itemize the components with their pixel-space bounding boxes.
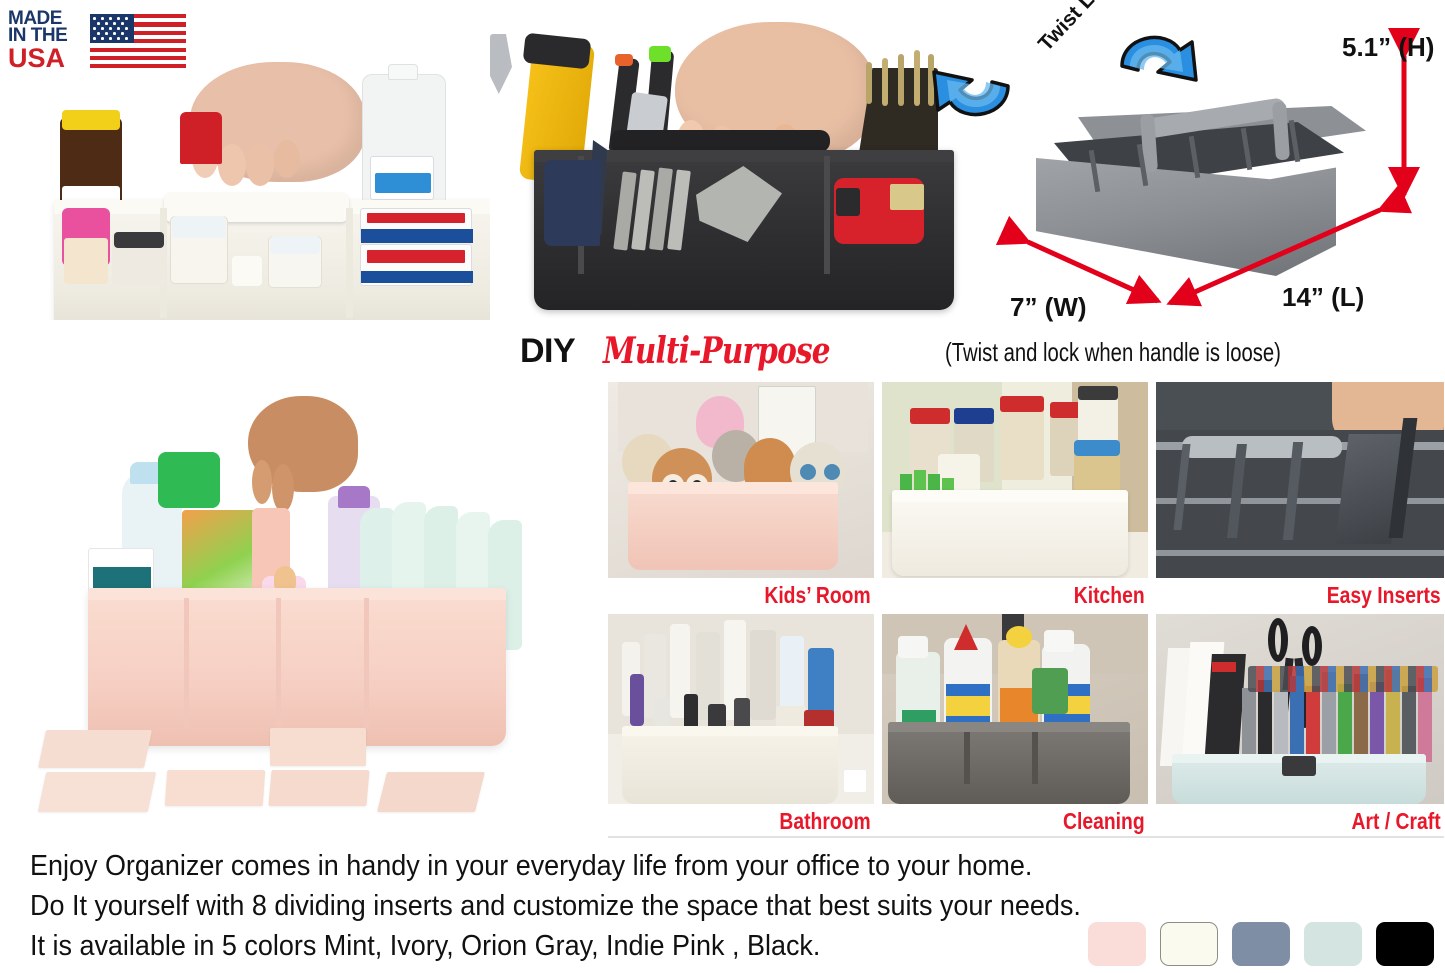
usecase-grid: Kids’ Room: [608, 382, 1444, 834]
divider-insert: [270, 728, 366, 766]
tote-handle: [610, 130, 830, 152]
divider-insert: [38, 772, 157, 812]
usecase-cleaning: Cleaning: [882, 614, 1148, 834]
pink-organizer-tote: [88, 588, 506, 746]
usecase-kitchen: Kitchen: [882, 382, 1148, 608]
divider-insert: [38, 730, 152, 768]
usecase-easy-inserts: Easy Inserts: [1156, 382, 1444, 608]
height-label: 5.1” (H): [1342, 32, 1434, 63]
usecase-label: Cleaning: [925, 808, 1148, 834]
baby-organizer-photo: [30, 390, 590, 830]
usecase-label: Kids’ Room: [651, 582, 874, 608]
color-swatch-row: [1088, 922, 1438, 968]
bandaid-box: [360, 208, 472, 242]
swatch-orion-gray: [1232, 922, 1290, 966]
usecase-label: Easy Inserts: [1202, 582, 1444, 608]
description-line-1: Enjoy Organizer comes in handy in your e…: [30, 846, 1341, 886]
tool-organizer-photo: [490, 20, 965, 320]
grid-bottom-divider: [608, 836, 1444, 838]
usecase-art-craft: Art / Craft: [1156, 614, 1444, 834]
flag-canton: [90, 14, 134, 43]
swatch-indie-pink: [1088, 922, 1146, 966]
usecase-bathroom: Bathroom: [608, 614, 874, 834]
diy-heading: DIY: [520, 332, 575, 371]
usecase-kids-room: Kids’ Room: [608, 382, 874, 608]
description-line-2: Do It yourself with 8 dividing inserts a…: [30, 886, 1341, 926]
usecase-label: Kitchen: [925, 582, 1148, 608]
dimensions-diagram: Twist Lock 5.1” (H) 7” (W) 14” (L): [1010, 10, 1445, 330]
divider-insert: [268, 770, 369, 806]
swatch-ivory: [1160, 922, 1218, 966]
length-label: 14” (L): [1282, 282, 1364, 313]
width-label: 7” (W): [1010, 292, 1087, 323]
multi-purpose-heading: Multi-Purpose: [603, 330, 830, 372]
usecase-label: Art / Craft: [1202, 808, 1444, 834]
swatch-mint: [1304, 922, 1362, 966]
divider-insert: [377, 772, 485, 812]
medicine-organizer-photo: [40, 60, 490, 320]
twist-lock-note: (Twist and lock when handle is loose): [945, 337, 1281, 368]
swatch-black: [1376, 922, 1434, 966]
usecase-label: Bathroom: [651, 808, 874, 834]
headline-row: DIY Multi-Purpose (Twist and lock when h…: [520, 332, 1445, 378]
divider-insert: [165, 770, 266, 806]
